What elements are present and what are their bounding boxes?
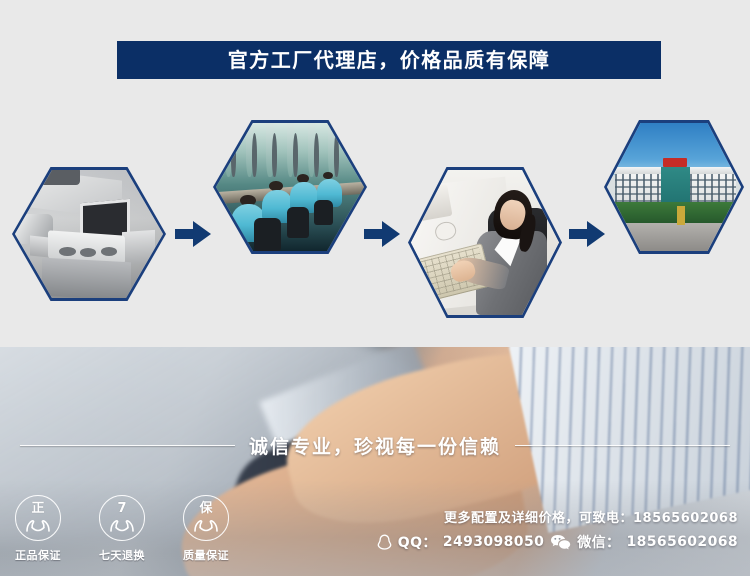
badge-glyph: 正 — [31, 502, 44, 515]
wechat-label: 微信： — [577, 532, 620, 552]
badge-glyph: 7 — [117, 502, 126, 515]
badge-quality-guarantee: 保 质量保证 — [176, 495, 236, 563]
qq-label: QQ： — [398, 532, 437, 552]
company-building-photo — [607, 123, 741, 251]
arrow-1-icon — [175, 221, 211, 247]
process-step-office-service — [408, 167, 562, 318]
process-section: 官方工厂代理店，价格品质有保障 — [0, 0, 750, 347]
badge-seven-day-return: 7 七天退换 — [92, 495, 152, 563]
badge-authentic-icon: 正 — [15, 495, 61, 541]
promo-page: 官方工厂代理店，价格品质有保障 — [0, 0, 750, 576]
process-step-equipment-room — [12, 167, 166, 301]
guarantee-badges: 正 正品保证 7 七 — [8, 495, 236, 563]
tagline-rule-left — [20, 445, 235, 446]
tagline-row: 诚信专业，珍视每一份信赖 — [0, 432, 750, 459]
wechat-icon — [550, 534, 571, 550]
badge-glyph: 保 — [199, 502, 212, 515]
arrow-3-icon — [569, 221, 605, 247]
banner-title: 官方工厂代理店，价格品质有保障 — [228, 50, 551, 70]
header-banner: 官方工厂代理店，价格品质有保障 — [117, 41, 661, 79]
process-step-company-building — [604, 120, 744, 254]
assembly-line-photo — [216, 123, 364, 251]
office-service-photo — [411, 170, 559, 315]
badge-label: 七天退换 — [99, 547, 145, 563]
trust-section: 诚信专业，珍视每一份信赖 正 正品保证 7 — [0, 347, 750, 576]
contact-im-line: QQ： 2493098050 微信： 18565602068 — [377, 532, 738, 552]
hands-icon — [25, 519, 51, 532]
hands-icon — [109, 519, 135, 532]
wechat-number: 18565602068 — [626, 534, 738, 550]
process-step-assembly-line — [213, 120, 367, 254]
badge-authentic: 正 正品保证 — [8, 495, 68, 563]
qq-penguin-icon — [377, 534, 392, 551]
qq-number: 2493098050 — [443, 534, 544, 550]
contact-phone-line: 更多配置及详细价格，可致电：18565602068 — [377, 507, 738, 526]
contact-block: 更多配置及详细价格，可致电：18565602068 QQ： 2493098050 — [377, 507, 738, 552]
tagline-text: 诚信专业，珍视每一份信赖 — [249, 432, 501, 459]
badge-label: 质量保证 — [183, 547, 229, 563]
equipment-room-photo — [15, 170, 163, 298]
badge-quality-guarantee-icon: 保 — [183, 495, 229, 541]
arrow-2-icon — [364, 221, 400, 247]
badge-seven-day-return-icon: 7 — [99, 495, 145, 541]
hands-icon — [193, 519, 219, 532]
badge-label: 正品保证 — [15, 547, 61, 563]
tagline-rule-right — [515, 445, 730, 446]
